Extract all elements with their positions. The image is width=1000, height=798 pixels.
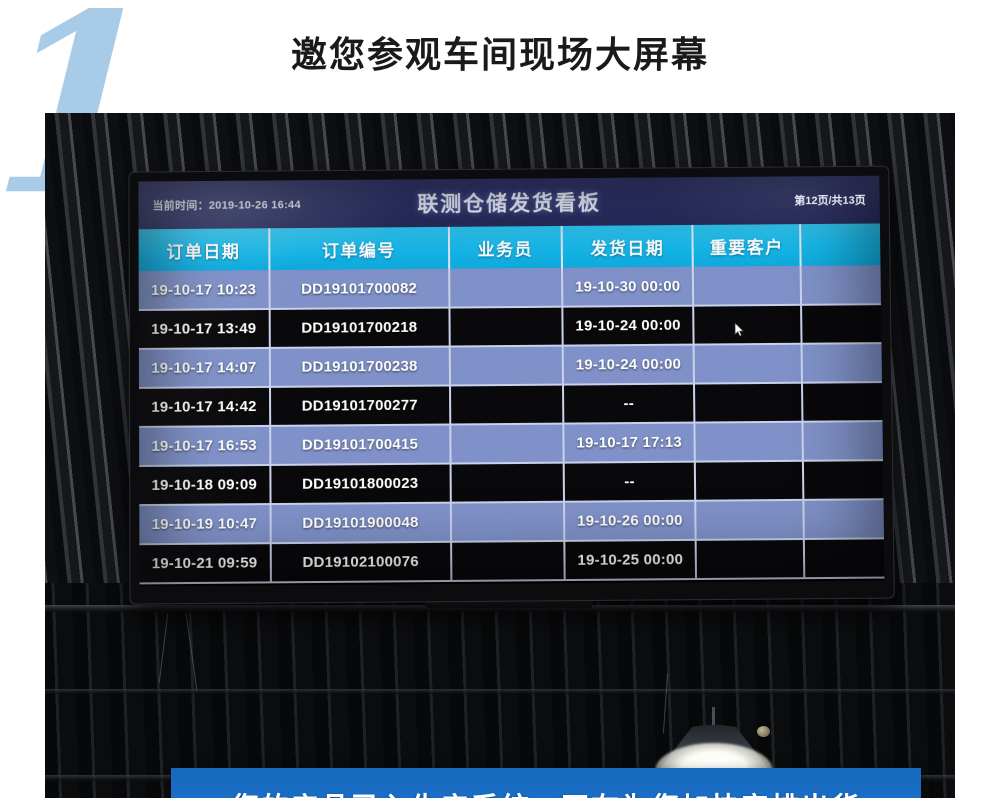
tv-screen: 当前时间：2019-10-26 16:44 联测仓储发货看板 第12页/共13页… — [138, 176, 884, 587]
cell-salesperson — [449, 268, 563, 308]
cell-key-customer — [694, 383, 803, 423]
cell-order-date: 19-10-19 10:47 — [139, 504, 270, 544]
cell-blank — [804, 499, 884, 539]
cell-salesperson — [451, 541, 565, 581]
table-body: 19-10-17 10:23DD1910170008219-10-30 00:0… — [139, 265, 885, 583]
cell-order-no: DD19101700277 — [270, 385, 450, 425]
cell-key-customer — [694, 422, 803, 462]
table-row: 19-10-17 14:42DD19101700277-- — [139, 382, 882, 427]
cell-ship-date: -- — [564, 462, 695, 502]
cell-ship-date: 19-10-25 00:00 — [565, 540, 696, 580]
cell-blank — [803, 421, 883, 461]
cell-salesperson — [450, 424, 564, 464]
cell-order-no: DD19101700218 — [269, 308, 449, 348]
cell-ship-date: 19-10-17 17:13 — [564, 423, 695, 463]
cell-key-customer — [696, 539, 805, 579]
cell-order-date: 19-10-17 13:49 — [139, 309, 270, 349]
table-header-row: 订单日期 订单编号 业务员 发货日期 重要客户 — [139, 223, 881, 271]
ceiling-screw — [757, 726, 770, 737]
table-row: 19-10-17 10:23DD1910170008219-10-30 00:0… — [139, 265, 881, 310]
page-indicator: 第12页/共13页 — [794, 192, 866, 208]
cell-order-date: 19-10-17 14:42 — [139, 387, 270, 427]
cell-ship-date: 19-10-24 00:00 — [563, 345, 694, 385]
cell-order-no: DD19101700082 — [269, 269, 449, 309]
workshop-photo: 当前时间：2019-10-26 16:44 联测仓储发货看板 第12页/共13页… — [45, 113, 955, 798]
cell-key-customer — [695, 461, 804, 501]
cell-salesperson — [450, 385, 564, 425]
cell-order-no: DD19101700238 — [270, 347, 450, 387]
table-row: 19-10-18 09:09DD19101800023-- — [139, 460, 883, 505]
column-header-order-no: 订单编号 — [269, 227, 449, 270]
column-header-key-customer: 重要客户 — [692, 224, 801, 267]
column-header-order-date: 订单日期 — [139, 228, 270, 271]
dashboard-title: 联测仓储发货看板 — [138, 185, 879, 221]
table-row: 19-10-17 13:49DD1910170021819-10-24 00:0… — [139, 304, 882, 349]
cell-order-date: 19-10-17 14:07 — [139, 348, 270, 388]
promo-banner: 您的产品已入生产系统，正在为您加快安排出货 — [171, 768, 921, 798]
dashboard-header: 当前时间：2019-10-26 16:44 联测仓储发货看板 第12页/共13页 — [138, 176, 879, 230]
cell-salesperson — [450, 502, 564, 542]
cell-ship-date: -- — [563, 384, 694, 424]
cell-blank — [802, 343, 882, 383]
cell-order-no: DD19101900048 — [270, 503, 450, 544]
cell-salesperson — [450, 463, 564, 503]
cell-order-date: 19-10-17 16:53 — [139, 426, 270, 466]
cell-ship-date: 19-10-26 00:00 — [564, 501, 695, 541]
column-header-blank — [801, 223, 881, 265]
cell-key-customer — [695, 500, 804, 540]
cell-order-no: DD19102100076 — [270, 542, 450, 583]
cell-salesperson — [449, 346, 563, 386]
cell-salesperson — [449, 307, 563, 347]
cell-order-no: DD19101800023 — [270, 464, 450, 505]
cell-order-date: 19-10-18 09:09 — [139, 465, 270, 505]
cell-blank — [802, 304, 882, 344]
cell-order-no: DD19101700415 — [270, 424, 450, 464]
wall-mounted-tv: 当前时间：2019-10-26 16:44 联测仓储发货看板 第12页/共13页… — [129, 167, 893, 604]
cell-ship-date: 19-10-30 00:00 — [562, 267, 693, 307]
table-row: 19-10-19 10:47DD1910190004819-10-26 00:0… — [139, 499, 884, 544]
promo-banner-text: 您的产品已入生产系统，正在为您加快安排出货 — [231, 786, 861, 798]
shipment-table: 订单日期 订单编号 业务员 发货日期 重要客户 19-10-17 10:23DD… — [139, 223, 885, 584]
table-row: 19-10-21 09:59DD1910210007619-10-25 00:0… — [139, 538, 884, 583]
column-header-salesperson: 业务员 — [448, 226, 562, 269]
table-row: 19-10-17 14:07DD1910170023819-10-24 00:0… — [139, 343, 882, 388]
column-header-ship-date: 发货日期 — [562, 225, 693, 268]
cell-order-date: 19-10-17 10:23 — [139, 270, 270, 310]
horizontal-beam — [45, 689, 955, 694]
cell-blank — [801, 265, 881, 305]
cell-ship-date: 19-10-24 00:00 — [563, 306, 694, 346]
cell-key-customer — [693, 305, 802, 345]
cell-order-date: 19-10-21 09:59 — [139, 543, 270, 583]
cell-blank — [803, 460, 883, 500]
cell-key-customer — [694, 344, 803, 384]
cell-key-customer — [693, 266, 802, 306]
table-row: 19-10-17 16:53DD1910170041519-10-17 17:1… — [139, 421, 883, 466]
page-title: 邀您参观车间现场大屏幕 — [0, 26, 1000, 78]
cell-blank — [804, 538, 884, 578]
cell-blank — [802, 382, 882, 422]
